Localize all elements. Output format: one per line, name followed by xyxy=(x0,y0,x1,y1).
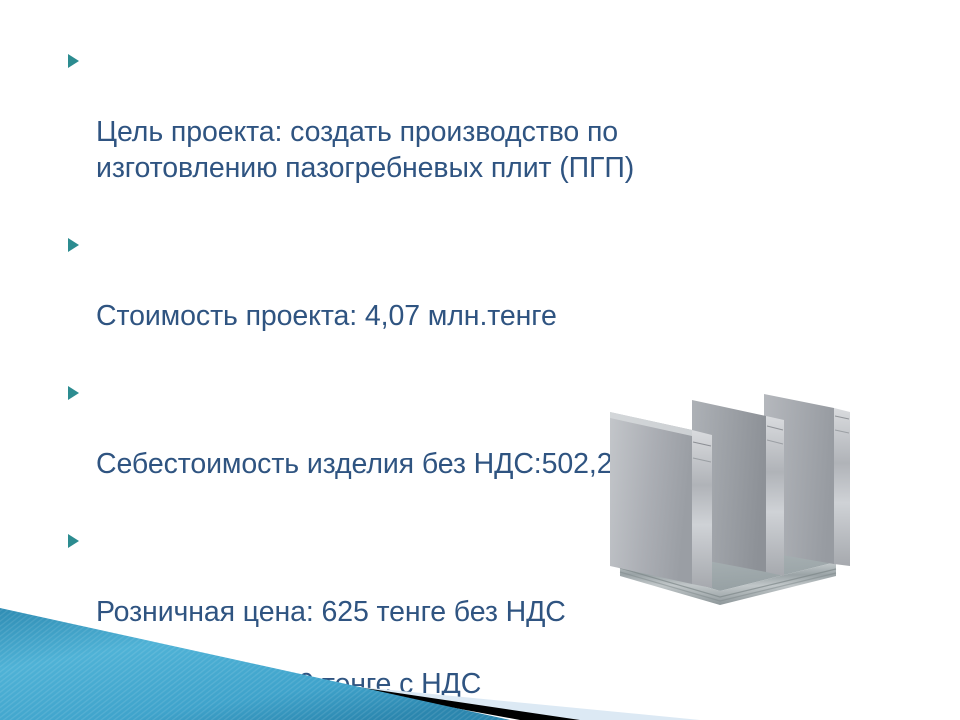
bullet-arrow-icon xyxy=(68,534,79,548)
list-item: Стоимость проекта: 4,07 млн.тенге xyxy=(62,226,892,370)
bullet-arrow-icon xyxy=(68,386,79,400)
list-item: Цель проекта: создать производство по из… xyxy=(62,42,892,222)
list-item-continuation: 700 тенге с НДС xyxy=(96,666,652,702)
list-item-label: Цель проекта: создать производство по из… xyxy=(96,114,892,186)
list-item-label: Стоимость проекта: 4,07 млн.тенге xyxy=(96,298,892,334)
bullet-arrow-icon xyxy=(68,54,79,68)
slide-canvas: Цель проекта: создать производство по из… xyxy=(0,0,960,720)
product-photo xyxy=(588,386,850,622)
bullet-arrow-icon xyxy=(68,238,79,252)
